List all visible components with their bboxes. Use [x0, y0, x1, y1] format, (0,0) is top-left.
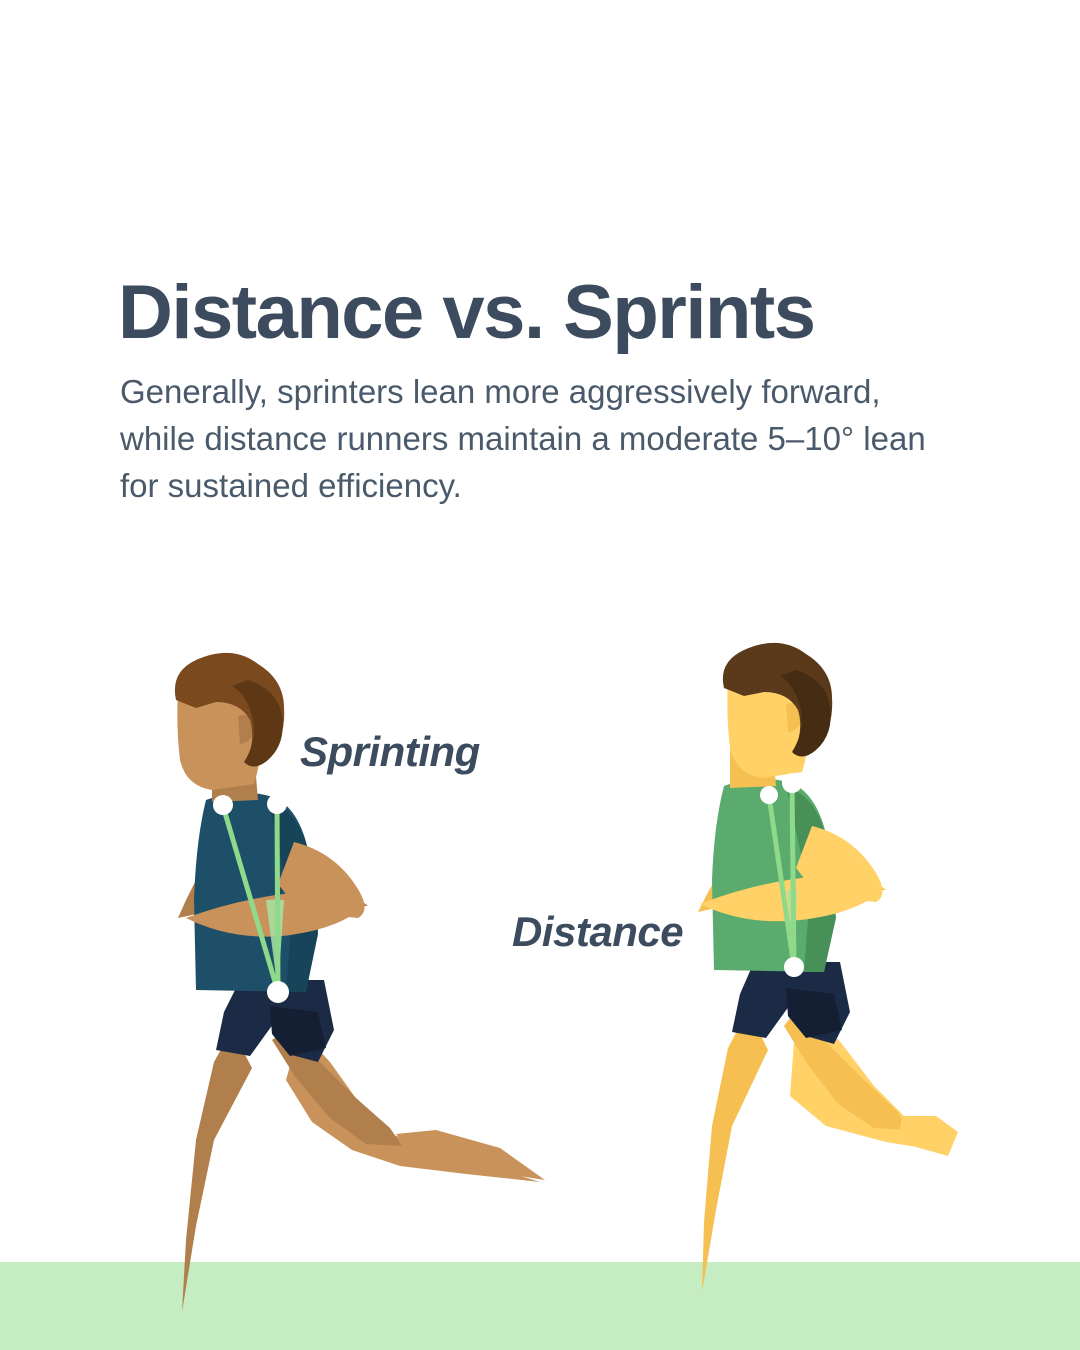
distance-shorts-shade — [786, 988, 842, 1038]
distance-shorts — [732, 962, 850, 1044]
infographic-poster: Distance vs. Sprints Generally, sprinter… — [0, 0, 1080, 1350]
distance-neck — [730, 738, 776, 788]
distance-back-arm — [698, 858, 818, 912]
distance-hair-shade — [780, 670, 831, 757]
sprinting-shirt — [194, 792, 318, 992]
distance-front-foot — [898, 1116, 958, 1156]
distance-forearm — [700, 876, 880, 921]
distance-upper-arm — [796, 826, 883, 902]
distance-lean-line — [769, 796, 794, 967]
distance-front-leg — [790, 1010, 948, 1152]
sprinting-shorts — [216, 980, 334, 1062]
sprinting-hip-marker — [267, 981, 289, 1003]
sprinting-head — [177, 675, 262, 790]
runner-illustration-distance — [0, 0, 1080, 1350]
sprinting-neck — [212, 752, 258, 802]
figure-label-distance: Distance — [512, 908, 683, 956]
sprinting-hair-shade — [232, 680, 283, 767]
distance-front-leg-shade — [784, 1010, 908, 1130]
sprinting-forearm — [186, 892, 362, 937]
sprinting-hair — [175, 653, 284, 765]
distance-vertical-reference-line — [792, 784, 794, 967]
sprinting-shirt-shade — [268, 800, 318, 992]
distance-upper-arm-shade — [806, 830, 886, 890]
distance-angle-wedge — [787, 890, 797, 967]
page-title: Distance vs. Sprints — [118, 273, 978, 353]
sprinting-front-leg-shade — [272, 1030, 402, 1146]
sprinting-front-leg — [286, 1030, 540, 1182]
page-subtitle: Generally, sprinters lean more aggressiv… — [120, 369, 940, 510]
distance-ear — [786, 703, 802, 732]
sprinting-upper-arm-shade — [288, 846, 368, 906]
distance-vertical-top-marker — [782, 773, 802, 793]
sprinting-ear — [238, 715, 254, 744]
distance-shirt-shade — [786, 786, 836, 972]
runner-illustration-sprinting — [0, 0, 1080, 1350]
sprinting-front-foot — [396, 1130, 545, 1180]
sprinting-back-arm — [178, 862, 300, 918]
sprinting-lean-line — [223, 806, 278, 992]
distance-hip-marker — [784, 957, 804, 977]
ground-band — [0, 1262, 1080, 1350]
sprinting-angle-wedge — [266, 900, 284, 992]
distance-hair — [723, 643, 832, 755]
sprinting-shoulder-marker — [213, 795, 233, 815]
distance-head — [727, 663, 810, 778]
distance-back-leg — [702, 1010, 768, 1292]
distance-shirt — [712, 778, 836, 972]
figure-label-sprinting: Sprinting — [300, 728, 480, 776]
sprinting-upper-arm — [278, 842, 365, 918]
sprinting-vertical-reference-line — [277, 805, 278, 992]
distance-shoulder-marker — [760, 786, 778, 804]
sprinting-shorts-shade — [270, 1006, 326, 1056]
sprinting-vertical-top-marker — [267, 794, 287, 814]
